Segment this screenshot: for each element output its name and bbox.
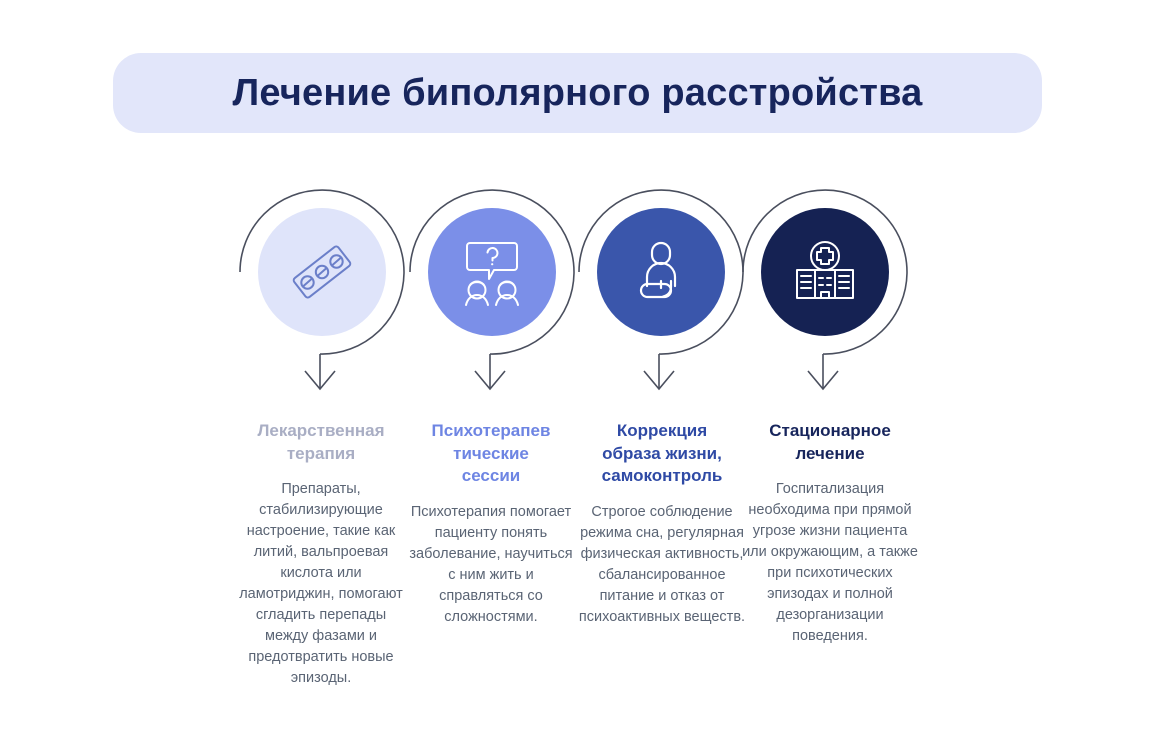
step-body-1: Препараты, стабилизирующие настроение, т…	[236, 479, 406, 689]
process-diagram	[0, 0, 1152, 753]
connector-arrow-head-3	[644, 371, 674, 389]
pill-blister-pack-icon	[286, 236, 358, 308]
step-column-4: Стационарное лечение Госпитализация необ…	[742, 420, 918, 647]
two-people-question-bubble-icon	[455, 235, 529, 309]
step-heading-3: Коррекция образа жизни, самоконтроль	[574, 420, 750, 488]
step-circle-4[interactable]	[761, 208, 889, 336]
step-column-1: Лекарственная терапия Препараты, стабили…	[236, 420, 406, 689]
hospital-building-cross-icon	[789, 236, 861, 308]
step-body-4: Госпитализация необходима при прямой угр…	[742, 479, 918, 647]
meditating-person-icon	[626, 237, 696, 307]
step-body-2: Психотерапия помогает пациенту понять за…	[406, 502, 576, 628]
connector-arrow-head-1	[305, 371, 335, 389]
step-circle-3[interactable]	[597, 208, 725, 336]
step-column-2: Психотерапев тические сессии Психотерапи…	[406, 420, 576, 628]
step-body-3: Строгое соблюдение режима сна, регулярна…	[574, 502, 750, 628]
connector-arrows-layer	[0, 0, 1152, 753]
step-heading-4: Стационарное лечение	[742, 420, 918, 465]
step-column-3: Коррекция образа жизни, самоконтроль Стр…	[574, 420, 750, 628]
connector-arrow-head-2	[475, 371, 505, 389]
step-circle-1[interactable]	[258, 208, 386, 336]
connector-arrow-head-4	[808, 371, 838, 389]
step-circle-2[interactable]	[428, 208, 556, 336]
step-heading-2: Психотерапев тические сессии	[406, 420, 576, 488]
step-heading-1: Лекарственная терапия	[236, 420, 406, 465]
